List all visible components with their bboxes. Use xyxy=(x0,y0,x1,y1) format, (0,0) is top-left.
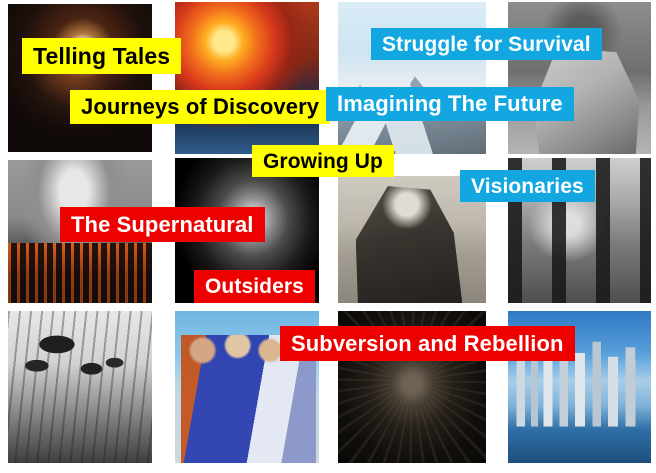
tile-bw-seated-man[interactable] xyxy=(508,2,651,154)
label-the-supernatural[interactable]: The Supernatural xyxy=(60,207,265,242)
label-outsiders[interactable]: Outsiders xyxy=(194,270,315,303)
tile-portrait-fire[interactable] xyxy=(8,4,152,152)
label-visionaries[interactable]: Visionaries xyxy=(460,170,595,202)
bw-seated-man-image xyxy=(508,2,651,154)
tile-pulp-sunset[interactable] xyxy=(175,2,319,154)
collage-canvas: Telling Tales Struggle for Survival Jour… xyxy=(0,0,656,473)
tile-opera-sky[interactable] xyxy=(338,2,486,154)
portrait-fire-image xyxy=(8,4,152,152)
label-growing-up[interactable]: Growing Up xyxy=(252,145,394,177)
label-journeys-of-discovery[interactable]: Journeys of Discovery xyxy=(70,90,330,124)
label-telling-tales[interactable]: Telling Tales xyxy=(22,38,181,74)
label-imagining-the-future[interactable]: Imagining The Future xyxy=(326,87,574,121)
helmets-bw-image xyxy=(8,311,152,463)
opera-sky-image xyxy=(338,2,486,154)
pulp-sunset-image xyxy=(175,2,319,154)
label-struggle-for-survival[interactable]: Struggle for Survival xyxy=(371,28,602,60)
tile-helmets-bw[interactable] xyxy=(8,311,152,463)
label-subversion-and-rebellion[interactable]: Subversion and Rebellion xyxy=(280,326,575,361)
